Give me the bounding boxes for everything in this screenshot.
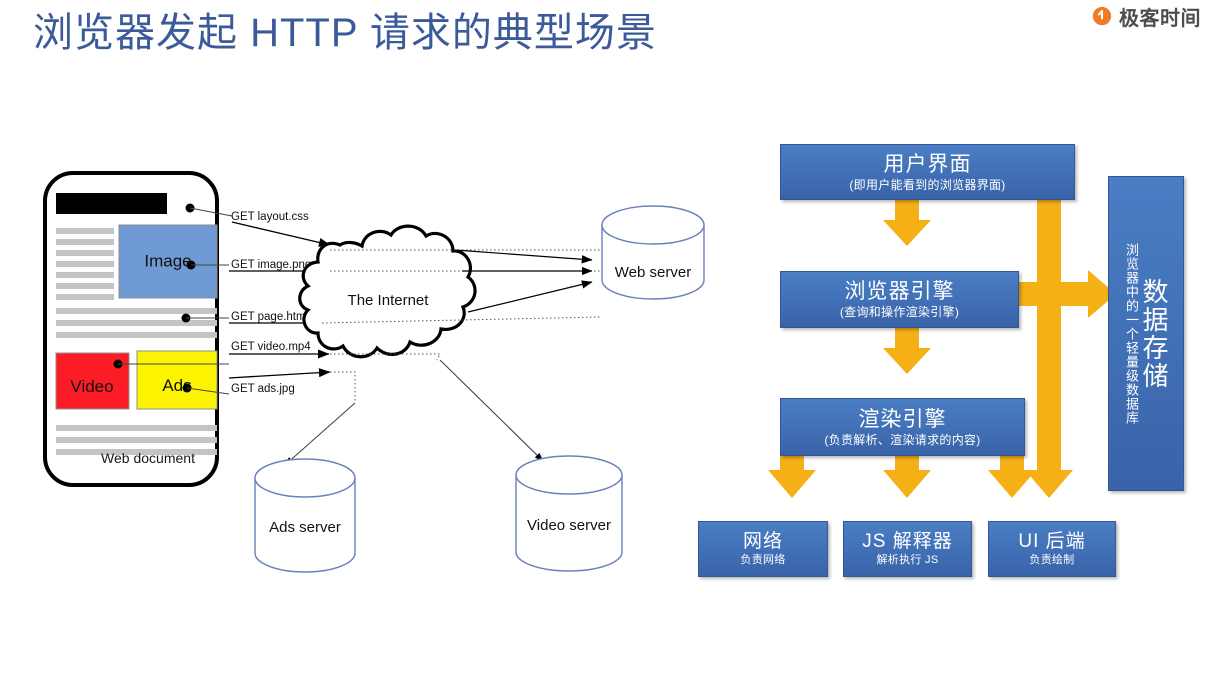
slide-root: 浏览器发起 HTTP 请求的典型场景 极客时间 <box>0 0 1211 675</box>
box-js-interpreter-title: JS 解释器 <box>862 530 952 553</box>
request-label-image-png: GET image.png <box>231 259 311 271</box>
video-server-cylinder: Video server <box>516 456 622 571</box>
ads-server-label: Ads server <box>269 519 341 536</box>
arrow-browser-engine-to-data-storage <box>1014 270 1116 318</box>
box-rendering-engine[interactable]: 渲染引擎 (负责解析、渲染请求的内容) <box>780 398 1025 456</box>
box-network-subtitle: 负责网络 <box>740 553 785 568</box>
brand-logo: 极客时间 <box>1091 2 1201 31</box>
box-data-storage-title: 数据存储 <box>1139 278 1169 390</box>
video-block-label: Video <box>70 377 113 396</box>
request-label-ads-jpg: GET ads.jpg <box>231 383 295 395</box>
page-title: 浏览器发起 HTTP 请求的典型场景 <box>33 6 657 60</box>
ads-server-cylinder: Ads server <box>255 459 355 572</box>
box-rendering-engine-subtitle: (负责解析、渲染请求的内容) <box>824 432 980 448</box>
box-user-interface-title: 用户界面 <box>884 152 972 177</box>
box-user-interface[interactable]: 用户界面 (即用户能看到的浏览器界面) <box>780 144 1075 200</box>
request-label-video-mp4: GET video.mp4 <box>231 341 311 353</box>
request-label-layout-css: GET layout.css <box>231 211 309 223</box>
arrows-to-side-servers <box>285 360 543 465</box>
document-header-bar <box>56 193 167 214</box>
document-text-lines-mid <box>56 308 217 338</box>
box-network-title: 网络 <box>743 530 783 553</box>
brand-name: 极客时间 <box>1119 2 1201 31</box>
box-js-interpreter[interactable]: JS 解释器 解析执行 JS <box>843 521 972 577</box>
web-document-caption: Web document <box>78 450 218 466</box>
image-block-label: Image <box>144 251 191 270</box>
box-data-storage[interactable]: 数据存储 浏览器中的一个轻量级数据库 <box>1108 176 1184 491</box>
box-ui-backend[interactable]: UI 后端 负责绘制 <box>988 521 1116 577</box>
box-ui-backend-title: UI 后端 <box>1018 530 1085 553</box>
box-ui-backend-subtitle: 负责绘制 <box>1029 553 1074 568</box>
video-server-label: Video server <box>527 517 611 534</box>
browser-architecture-diagram: 用户界面 (即用户能看到的浏览器界面) 浏览器引擎 (查询和操作渲染引擎) 渲染… <box>680 130 1211 610</box>
box-js-interpreter-subtitle: 解析执行 JS <box>877 553 939 568</box>
arrow-ui-to-browser-engine <box>883 192 931 246</box>
request-label-page-html: GET page.html <box>231 311 308 323</box>
arrows-to-web-server <box>455 250 592 312</box>
box-user-interface-subtitle: (即用户能看到的浏览器界面) <box>849 177 1005 193</box>
arrow-ui-to-ui-backend <box>1025 192 1073 498</box>
cloud-label: The Internet <box>348 292 430 309</box>
geektime-logo-icon <box>1091 6 1113 28</box>
box-browser-engine[interactable]: 浏览器引擎 (查询和操作渲染引擎) <box>780 271 1019 328</box>
box-data-storage-subtitle: 浏览器中的一个轻量级数据库 <box>1123 243 1139 425</box>
box-network[interactable]: 网络 负责网络 <box>698 521 828 577</box>
network-diagram: Image Video Ads <box>0 120 760 620</box>
network-diagram-svg: Image Video Ads <box>0 120 760 620</box>
arrow-browser-to-render-engine <box>883 320 931 374</box>
box-rendering-engine-title: 渲染引擎 <box>859 407 947 432</box>
box-browser-engine-title: 浏览器引擎 <box>845 279 955 304</box>
box-browser-engine-subtitle: (查询和操作渲染引擎) <box>840 304 959 320</box>
